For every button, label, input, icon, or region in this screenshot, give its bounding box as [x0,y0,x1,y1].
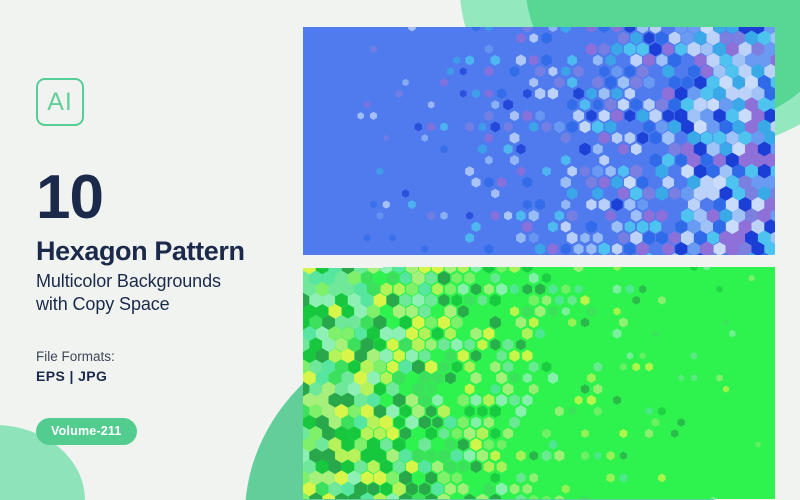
blue-hexagon-canvas [303,27,775,255]
item-count: 10 [36,169,286,226]
green-hexagon-canvas [303,267,775,499]
subtitle-line-1: Multicolor Backgrounds [36,270,286,293]
ai-badge-label: AI [47,88,73,117]
file-formats-label: File Formats: [36,349,286,364]
blue-hexagon-preview [303,27,775,255]
file-formats-value: EPS | JPG [36,368,286,384]
info-column: AI 10 Hexagon Pattern Multicolor Backgro… [36,78,286,445]
green-hexagon-preview [303,267,775,499]
volume-badge: Volume-211 [36,418,137,445]
ai-format-badge: AI [36,78,84,126]
panel-gap-notch [303,255,383,268]
subtitle: Multicolor Backgrounds with Copy Space [36,270,286,316]
page-title: Hexagon Pattern [36,237,286,265]
artboard: AI 10 Hexagon Pattern Multicolor Backgro… [0,0,800,500]
subtitle-line-2: with Copy Space [36,293,286,316]
